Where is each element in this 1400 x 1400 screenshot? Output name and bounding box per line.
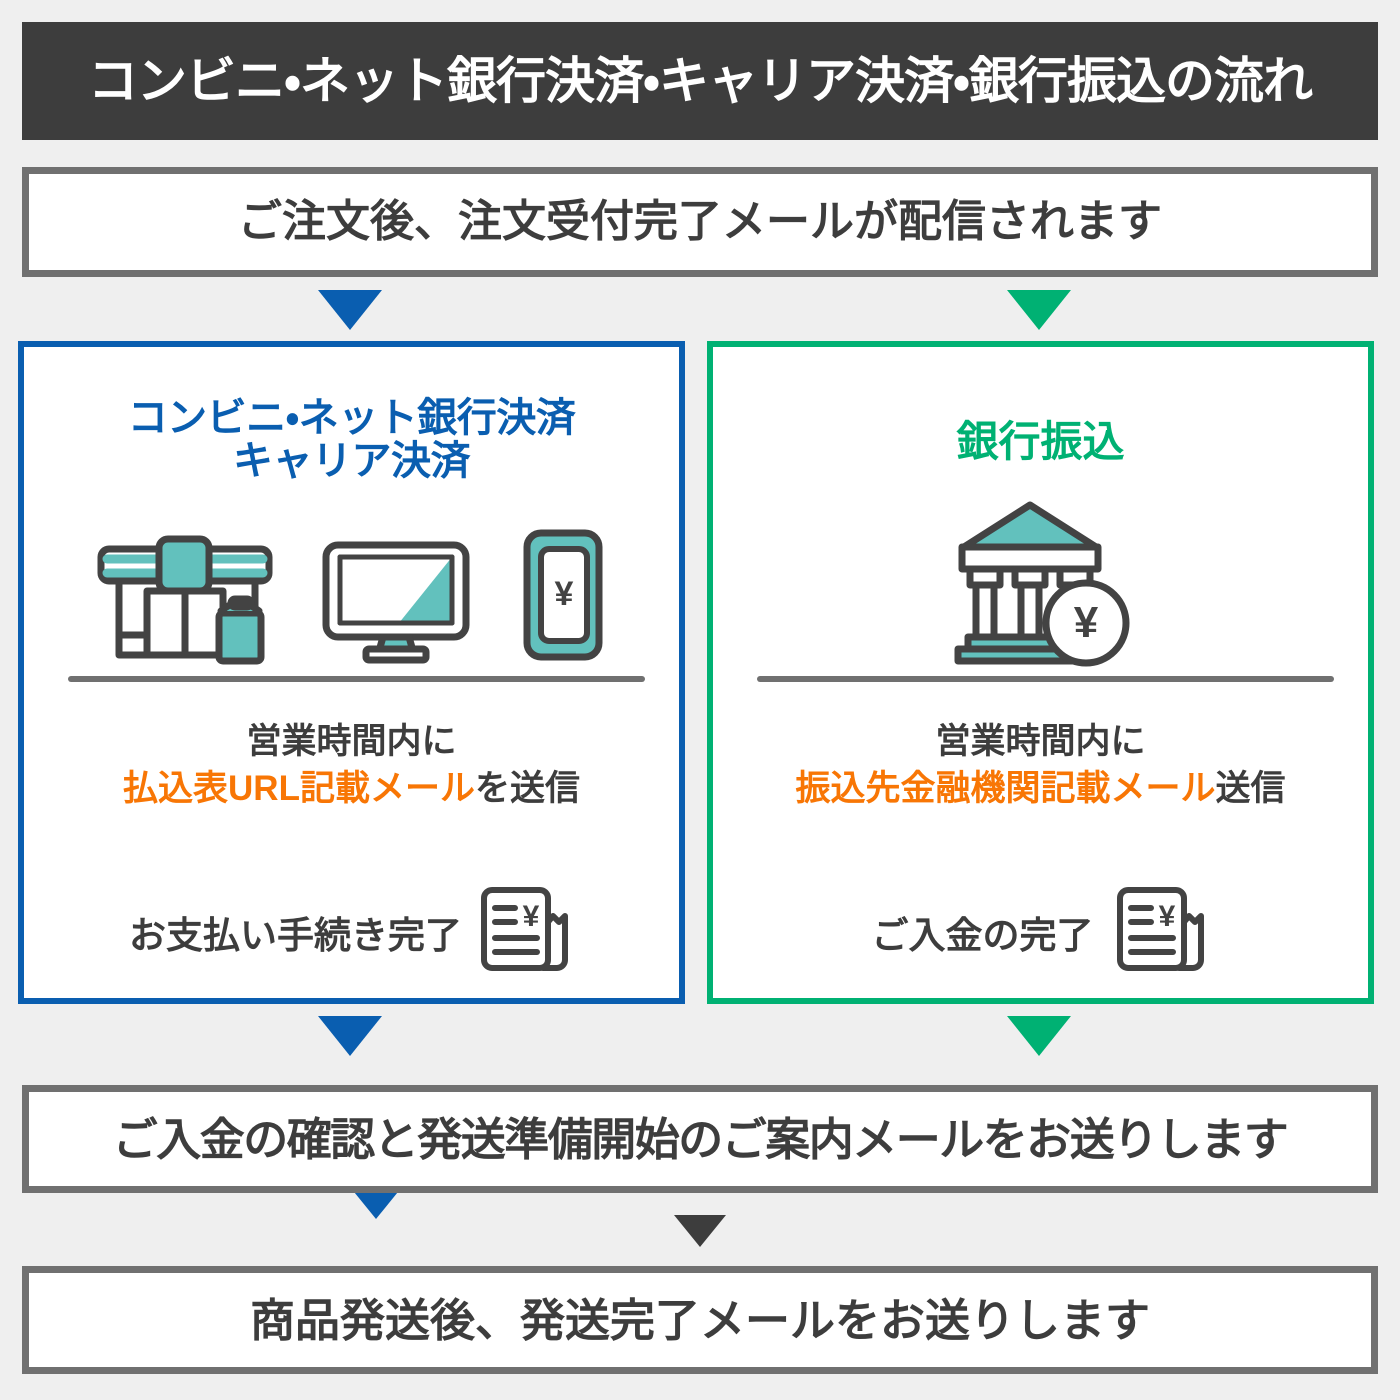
panel-conveni-title: コンビニ・ネット銀行決済 キャリア決済 [24, 397, 679, 483]
arrow-bank-to-confirm-icon [1007, 1016, 1071, 1056]
panel-conveni-result: お支払い手続き完了 ¥ [24, 884, 679, 980]
panel-bank-title-line1: 銀行振込 [956, 418, 1124, 465]
diagram-title: コンビニ・ネット銀行決済・キャリア決済・銀行振込の流れ [88, 56, 1312, 106]
step-shipped-label: 商品発送後、発送完了メールをお送りします [250, 1298, 1150, 1343]
smartphone-yen-icon: ¥ [519, 525, 607, 665]
step-box-payment-confirm: ご入金の確認と発送準備開始のご案内メールをお送りします [22, 1085, 1378, 1193]
arrow-confirm-to-shipped-icon [674, 1215, 726, 1247]
arrow-to-bank-icon [1007, 290, 1071, 330]
panel-bank-divider [757, 676, 1334, 682]
panel-bank-transfer: 銀行振込 [707, 341, 1374, 1004]
panel-bank-note-highlight: 振込先金融機関記載メール [795, 769, 1215, 808]
panel-conveni-payment: コンビニ・ネット銀行決済 キャリア決済 [18, 341, 685, 1004]
svg-text:¥: ¥ [554, 575, 573, 613]
panel-bank-note: 営業時間内に 振込先金融機関記載メール送信 [713, 719, 1368, 813]
panel-conveni-note: 営業時間内に 払込表URL記載メールを送信 [24, 719, 679, 813]
panel-conveni-note-line1: 営業時間内に [246, 722, 456, 761]
panel-bank-icon-row: ¥ [713, 497, 1368, 667]
step-order-label: ご注文後、注文受付完了メールが配信されます [238, 200, 1162, 244]
panel-conveni-title-line2: キャリア決済 [233, 439, 470, 483]
panel-conveni-divider [68, 676, 645, 682]
panel-bank-result-label: ご入金の完了 [872, 905, 1094, 959]
panel-conveni-note-highlight: 払込表URL記載メール [123, 769, 475, 808]
arrow-conveni-to-confirm-icon [318, 1016, 382, 1056]
panel-bank-note-line1: 営業時間内に [935, 722, 1145, 761]
panel-conveni-note-tail: を送信 [475, 769, 580, 808]
bank-building-yen-icon: ¥ [946, 497, 1136, 667]
svg-text:¥: ¥ [1073, 598, 1098, 647]
panel-conveni-title-line1: コンビニ・ネット銀行決済 [128, 396, 576, 440]
step-box-shipped: 商品発送後、発送完了メールをお送りします [22, 1266, 1378, 1374]
svg-text:¥: ¥ [523, 900, 540, 933]
panel-bank-title: 銀行振込 [713, 419, 1368, 464]
step-payment-confirm-label: ご入金の確認と発送準備開始のご案内メールをお送りします [113, 1117, 1288, 1162]
diagram-header: コンビニ・ネット銀行決済・キャリア決済・銀行振込の流れ [22, 22, 1378, 140]
svg-text:¥: ¥ [1158, 900, 1175, 933]
monitor-icon [321, 535, 471, 665]
arrow-to-conveni-icon [318, 290, 382, 330]
convenience-store-icon [97, 533, 273, 665]
step-box-order: ご注文後、注文受付完了メールが配信されます [22, 167, 1378, 277]
panel-bank-result: ご入金の完了 ¥ [713, 884, 1368, 980]
panel-bank-note-tail: 送信 [1216, 769, 1286, 808]
receipt-yen-icon: ¥ [1110, 884, 1210, 980]
panel-conveni-icon-row: ¥ [24, 525, 679, 665]
payment-flow-diagram: コンビニ・ネット銀行決済・キャリア決済・銀行振込の流れ ご注文後、注文受付完了メ… [0, 0, 1400, 1400]
receipt-yen-icon: ¥ [474, 884, 574, 980]
panel-conveni-result-label: お支払い手続き完了 [129, 905, 462, 959]
